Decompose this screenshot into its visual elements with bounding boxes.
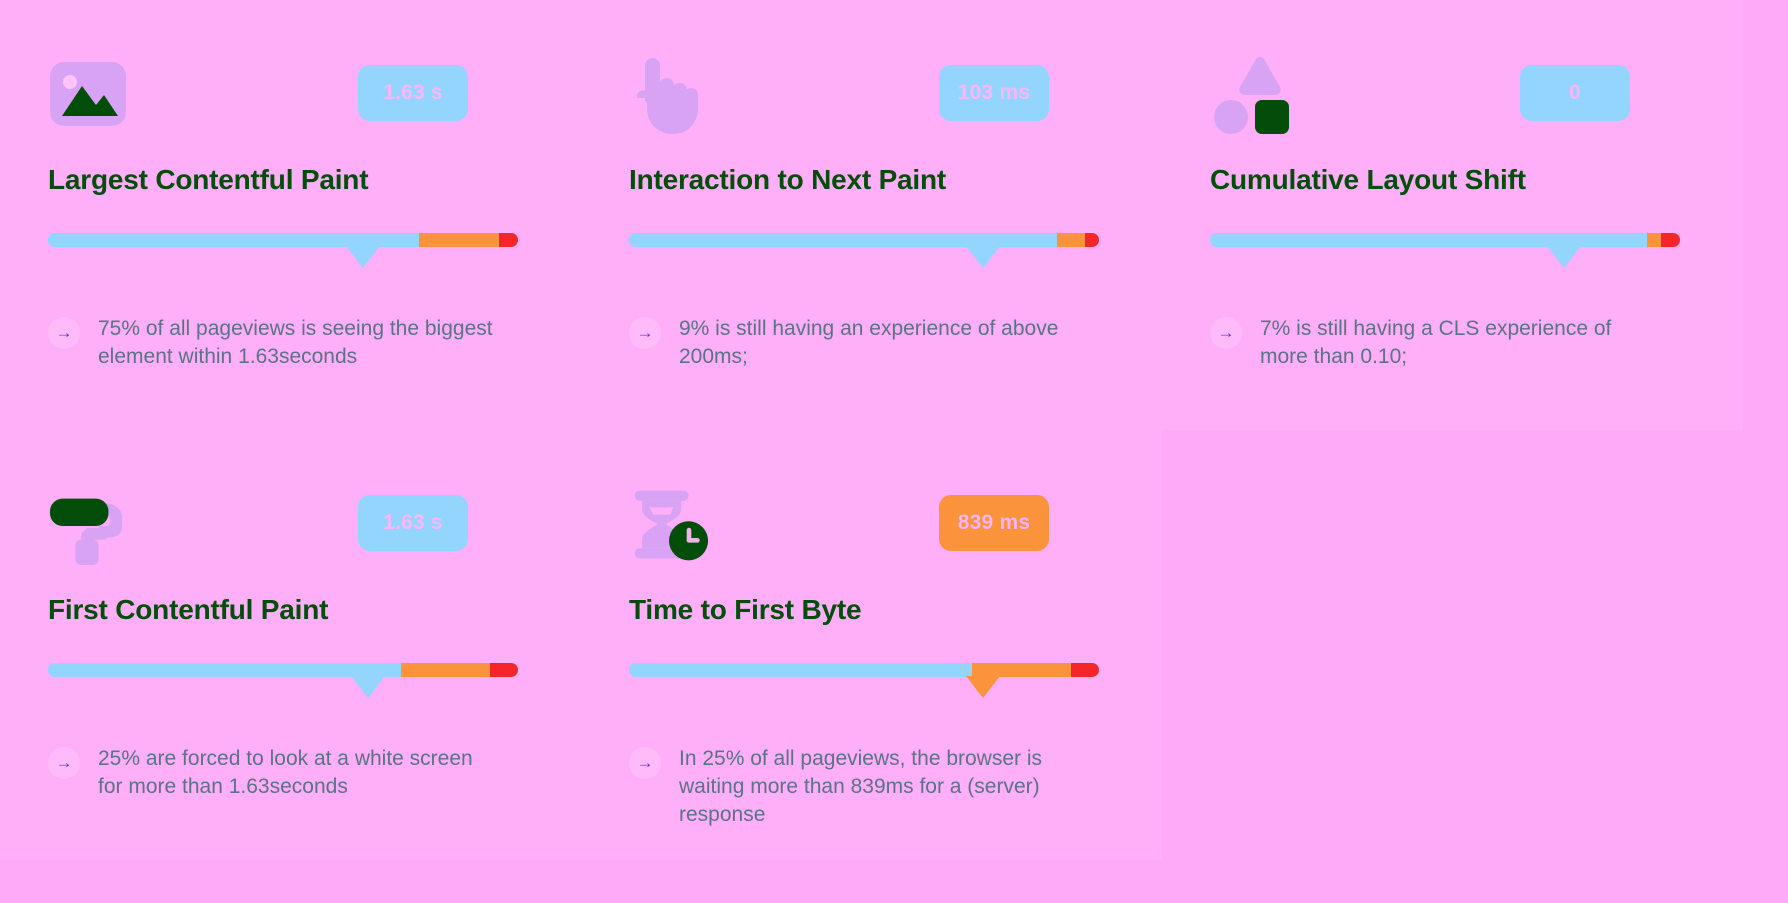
bar-segment-poor [490, 663, 518, 677]
bar-segment-good [629, 233, 1057, 247]
arrow-right-icon: → [629, 317, 661, 349]
arrow-right-icon: → [48, 317, 80, 349]
card-title: Interaction to Next Paint [629, 163, 1114, 197]
card-title: First Contentful Paint [48, 593, 533, 627]
core-web-vitals-dashboard: 1.63 s Largest Contentful Paint → 75% of… [0, 0, 1788, 903]
card-header: 0 [1210, 55, 1695, 147]
note-text: 7% is still having a CLS experience of m… [1260, 315, 1660, 372]
bar-segment-good [629, 663, 972, 677]
bar-marker [966, 676, 1000, 698]
metric-card-empty-slot [1162, 430, 1743, 860]
bar-segment-poor [1085, 233, 1099, 247]
bar-segment-needs-improvement [1647, 233, 1661, 247]
note-row: → 7% is still having a CLS experience of… [1210, 315, 1695, 372]
bar-segment-good [1210, 233, 1647, 247]
pointing-hand-icon [629, 55, 709, 135]
paint-roller-icon [48, 485, 128, 565]
card-header: 103 ms [629, 55, 1114, 147]
progress-bar-zone [48, 233, 533, 279]
threshold-bar[interactable] [48, 663, 518, 677]
note-text: 25% are forced to look at a white screen… [98, 745, 498, 802]
card-header: 839 ms [629, 485, 1114, 577]
badge-value: 0 [1520, 65, 1630, 121]
bar-segment-needs-improvement [1057, 233, 1085, 247]
note-text: In 25% of all pageviews, the browser is … [679, 745, 1079, 830]
metric-card-interaction-to-next-paint[interactable]: 103 ms Interaction to Next Paint → 9% is… [581, 0, 1162, 430]
metric-card-first-contentful-paint[interactable]: 1.63 s First Contentful Paint → 25% are … [0, 430, 581, 860]
arrow-right-icon: → [48, 747, 80, 779]
card-title: Time to First Byte [629, 593, 1114, 627]
card-title: Cumulative Layout Shift [1210, 163, 1695, 197]
bar-marker [351, 676, 385, 698]
badge-value: 839 ms [939, 495, 1049, 551]
badge-value: 1.63 s [358, 495, 468, 551]
threshold-bar[interactable] [48, 233, 518, 247]
threshold-bar[interactable] [629, 663, 1099, 677]
bar-marker [1547, 246, 1581, 268]
metrics-grid: 1.63 s Largest Contentful Paint → 75% of… [0, 0, 1788, 903]
note-text: 75% of all pageviews is seeing the bigge… [98, 315, 498, 372]
progress-bar-zone [629, 233, 1114, 279]
card-title: Largest Contentful Paint [48, 163, 533, 197]
bar-segment-poor [1661, 233, 1680, 247]
metric-card-time-to-first-byte[interactable]: 839 ms Time to First Byte → In 25% of al… [581, 430, 1162, 860]
metric-card-largest-contentful-paint[interactable]: 1.63 s Largest Contentful Paint → 75% of… [0, 0, 581, 430]
threshold-bar[interactable] [629, 233, 1099, 247]
image-icon [48, 55, 128, 135]
threshold-bar[interactable] [1210, 233, 1680, 247]
progress-bar-zone [1210, 233, 1695, 279]
bar-segment-poor [499, 233, 518, 247]
bar-segment-good [48, 233, 419, 247]
bar-segment-poor [1071, 663, 1099, 677]
note-text: 9% is still having an experience of abov… [679, 315, 1079, 372]
bar-segment-needs-improvement [972, 663, 1071, 677]
bar-segment-needs-improvement [401, 663, 490, 677]
shapes-icon [1210, 55, 1290, 135]
card-header: 1.63 s [48, 485, 533, 577]
bar-marker [346, 246, 380, 268]
note-row: → In 25% of all pageviews, the browser i… [629, 745, 1114, 830]
arrow-right-icon: → [629, 747, 661, 779]
hourglass-clock-icon [629, 485, 709, 565]
progress-bar-zone [48, 663, 533, 709]
bar-marker [966, 246, 1000, 268]
badge-value: 103 ms [939, 65, 1049, 121]
arrow-right-icon: → [1210, 317, 1242, 349]
badge-value: 1.63 s [358, 65, 468, 121]
bar-segment-needs-improvement [419, 233, 499, 247]
metric-card-cumulative-layout-shift[interactable]: 0 Cumulative Layout Shift → 7% is still … [1162, 0, 1743, 430]
note-row: → 75% of all pageviews is seeing the big… [48, 315, 533, 372]
note-row: → 25% are forced to look at a white scre… [48, 745, 533, 802]
bar-segment-good [48, 663, 401, 677]
progress-bar-zone [629, 663, 1114, 709]
card-header: 1.63 s [48, 55, 533, 147]
note-row: → 9% is still having an experience of ab… [629, 315, 1114, 372]
